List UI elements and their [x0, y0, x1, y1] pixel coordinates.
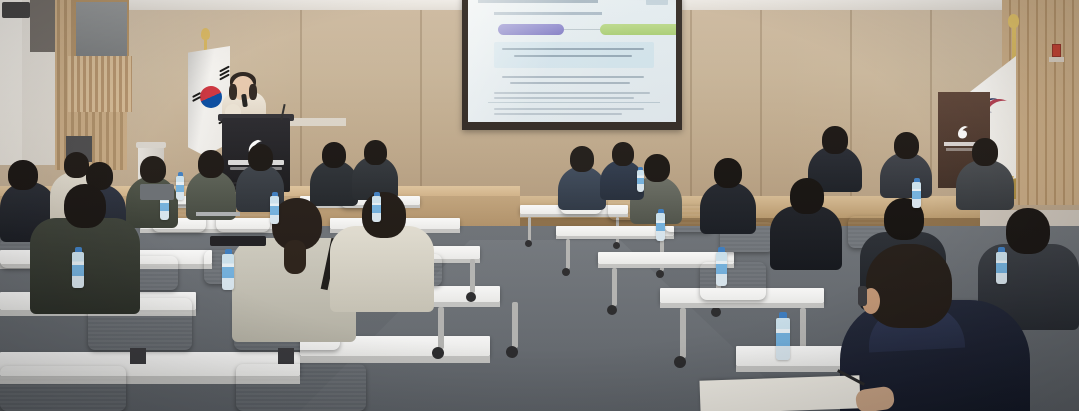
wall-seam [690, 0, 692, 200]
chair [700, 262, 766, 300]
water-bottle [656, 213, 665, 241]
water-bottle [776, 318, 790, 360]
attendee-head [790, 178, 824, 214]
attendee [330, 226, 434, 312]
attendee-head [612, 142, 634, 166]
attendee-head [322, 142, 346, 168]
slat-rail [68, 56, 132, 112]
paper-sheet [699, 375, 860, 411]
attendee [30, 218, 140, 314]
fire-alarm-base [1049, 57, 1064, 62]
attendee-head [362, 192, 406, 238]
wall-seam [300, 0, 302, 200]
bag [210, 236, 266, 246]
presenter-hair-side-right [249, 84, 257, 100]
wall-speaker-icon [2, 2, 30, 18]
attendee-head [894, 132, 919, 159]
water-bottle [372, 196, 381, 222]
notebook [196, 212, 240, 216]
laptop [140, 184, 174, 200]
water-bottle [176, 176, 184, 200]
attendee-head [972, 138, 998, 166]
wall-seam [420, 0, 422, 200]
korea-flag-finial-icon [201, 28, 210, 40]
attendee [770, 206, 842, 270]
attendee [558, 166, 606, 210]
water-bottle [270, 196, 279, 224]
attendee-head [248, 144, 273, 171]
water-bottle [912, 182, 921, 208]
water-bottle [637, 170, 644, 192]
attendee-head [140, 156, 166, 183]
institution-flag-finial-icon [1008, 14, 1019, 28]
water-bottle [222, 254, 234, 290]
attendee-ponytail [284, 240, 306, 274]
waste-bin-lid [136, 142, 166, 148]
attendee-head [64, 184, 106, 228]
plaster-wall-left-edge [0, 0, 22, 165]
side-podium-logo-icon [955, 124, 971, 140]
presenter-hair-side-left [229, 84, 237, 100]
attendee-head [714, 158, 742, 188]
foreground-attendee-head [866, 244, 952, 328]
attendee-head [644, 154, 670, 182]
chair [236, 364, 366, 411]
attendee-head [364, 140, 387, 165]
screen-glare [468, 0, 676, 122]
wall-recess [30, 0, 56, 52]
attendee-head [8, 160, 38, 190]
conference-hall-photo [0, 0, 1079, 411]
attendee-head [570, 146, 594, 172]
foreground-attendee-hand [855, 385, 896, 411]
attendee [700, 182, 756, 234]
water-bottle [716, 252, 727, 286]
water-bottle [996, 252, 1007, 284]
water-bottle [72, 252, 84, 288]
wall-seam [760, 0, 762, 200]
attendee-head [822, 126, 848, 154]
attendee-head [1006, 208, 1050, 254]
fire-alarm-icon [1052, 44, 1061, 57]
glasses-temple-icon [858, 286, 867, 306]
projection-booth-window [74, 0, 129, 58]
chair [0, 366, 126, 411]
attendee-head [198, 150, 224, 178]
attendee [956, 160, 1014, 210]
